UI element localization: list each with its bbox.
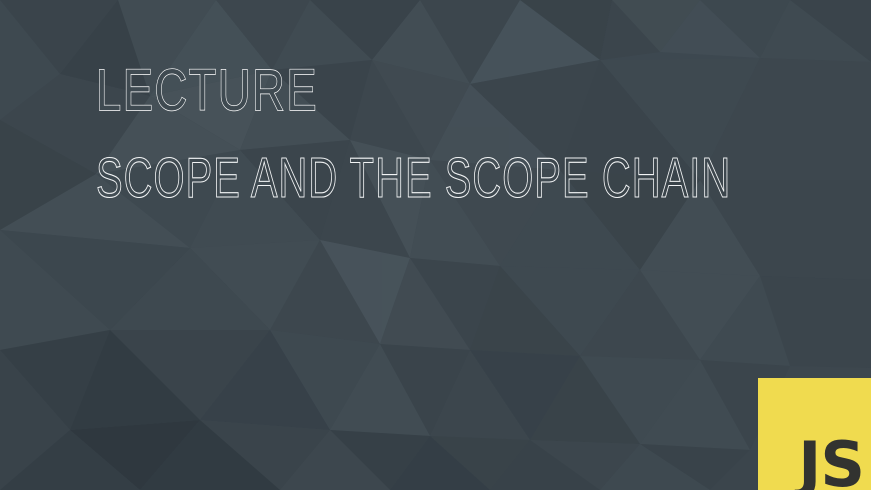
javascript-logo-text: JS [798,434,864,490]
javascript-logo: JS [758,378,871,490]
slide-subtitle: SCOPE AND THE SCOPE CHAIN [96,150,586,207]
title-slide: LECTURE SCOPE AND THE SCOPE CHAIN JS [0,0,871,490]
page-title: LECTURE [96,62,642,120]
slide-text-block: LECTURE SCOPE AND THE SCOPE CHAIN [96,62,796,207]
